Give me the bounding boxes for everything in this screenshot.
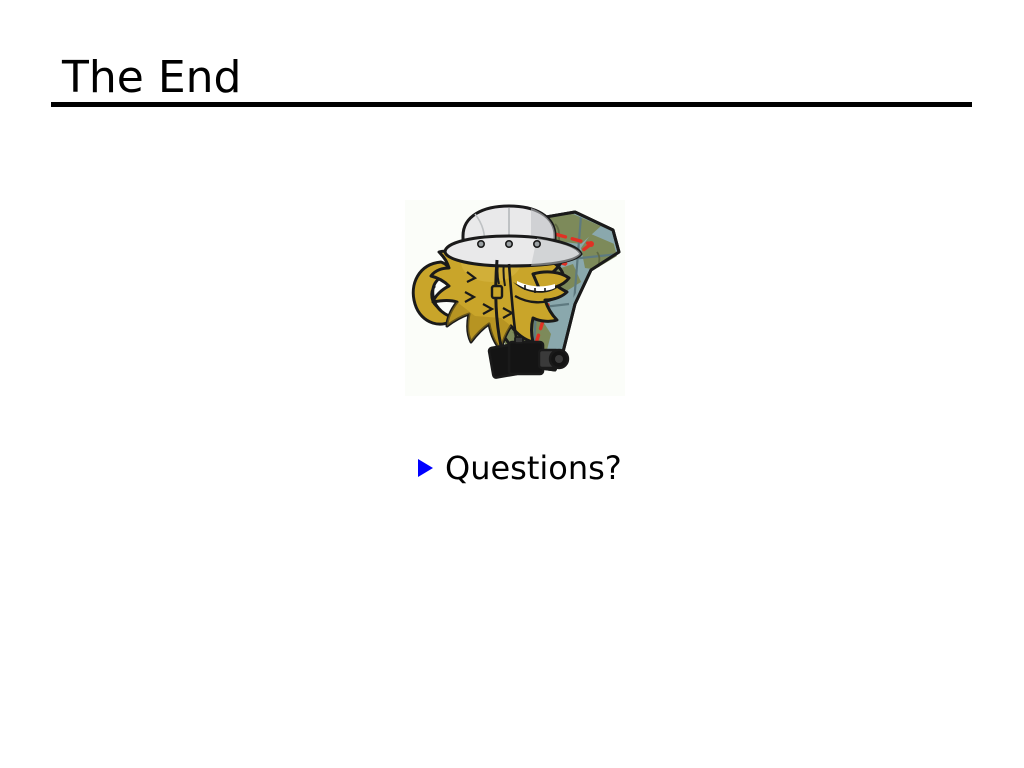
puffy-tourist-illustration: [405, 200, 625, 396]
mascot-image: [405, 200, 625, 396]
page-title: The End: [62, 52, 241, 104]
title-underline-rule: [51, 102, 972, 107]
bullet-list-item: Questions?: [418, 448, 622, 488]
triangle-right-bullet-icon: [418, 459, 433, 477]
slide: The End: [0, 0, 1024, 768]
bullet-item-label: Questions?: [445, 448, 622, 488]
